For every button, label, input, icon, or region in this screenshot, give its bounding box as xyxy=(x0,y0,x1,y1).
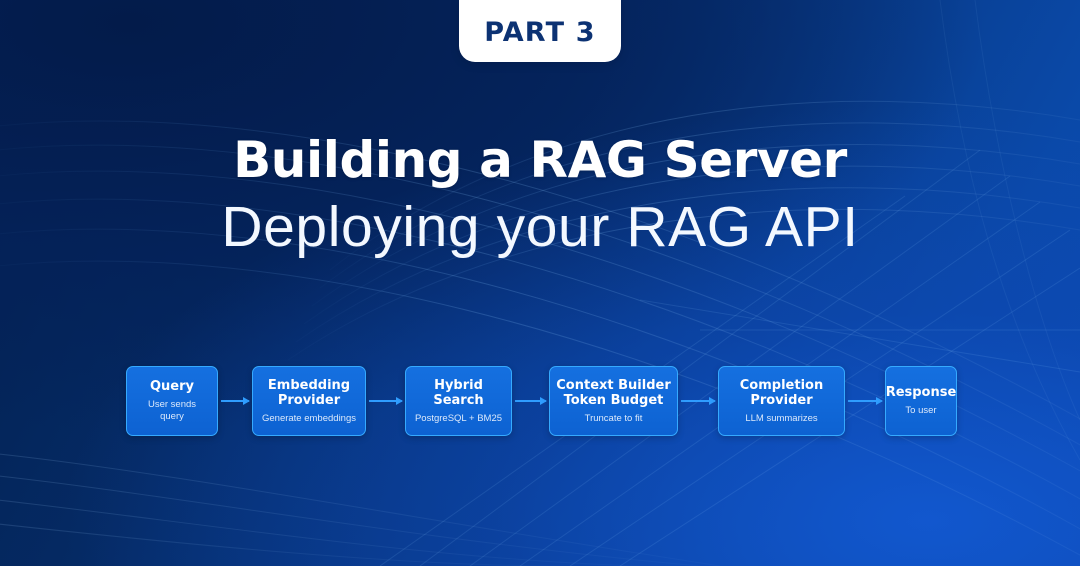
flow-node-title: Query xyxy=(150,379,194,394)
flow-node-subtitle: LLM summarizes xyxy=(745,413,817,425)
flow-node-title: Context Builder Token Budget xyxy=(556,378,671,408)
flow-node-title: Embedding Provider xyxy=(268,378,350,408)
arrow-head-icon xyxy=(243,397,250,405)
background-line-art xyxy=(0,0,1080,566)
flow-node-completion-provider[interactable]: Completion ProviderLLM summarizes xyxy=(718,366,845,436)
headline-block: Building a RAG Server Deploying your RAG… xyxy=(0,132,1080,264)
connector-context-to-completion xyxy=(681,400,715,402)
connector-hybrid-to-context xyxy=(515,400,546,402)
flow-node-title: Completion Provider xyxy=(740,378,823,408)
flow-node-title: Response xyxy=(886,385,957,400)
arrow-head-icon xyxy=(876,397,883,405)
flow-node-embedding-provider[interactable]: Embedding ProviderGenerate embeddings xyxy=(252,366,366,436)
connector-embedding-to-hybrid xyxy=(369,400,402,402)
flow-node-subtitle: Generate embeddings xyxy=(262,413,356,425)
arrow-head-icon xyxy=(709,397,716,405)
page-title: Building a RAG Server xyxy=(0,132,1080,188)
flow-node-hybrid-search[interactable]: Hybrid SearchPostgreSQL + BM25 xyxy=(405,366,512,436)
flow-node-context-builder[interactable]: Context Builder Token BudgetTruncate to … xyxy=(549,366,678,436)
flow-node-subtitle: PostgreSQL + BM25 xyxy=(415,413,502,425)
arrow-head-icon xyxy=(396,397,403,405)
rag-pipeline-diagram: QueryUser sends queryEmbedding ProviderG… xyxy=(0,366,1080,440)
arrow-head-icon xyxy=(540,397,547,405)
flow-node-title: Hybrid Search xyxy=(433,378,483,408)
page-subtitle: Deploying your RAG API xyxy=(0,190,1080,264)
flow-node-response[interactable]: ResponseTo user xyxy=(885,366,957,436)
connector-completion-to-response xyxy=(848,400,882,402)
part-badge-label: PART 3 xyxy=(484,13,596,48)
connector-query-to-embedding xyxy=(221,400,249,402)
flow-node-subtitle: User sends query xyxy=(148,399,196,423)
flow-node-subtitle: Truncate to fit xyxy=(585,413,643,425)
slide-canvas: PART 3 Building a RAG Server Deploying y… xyxy=(0,0,1080,566)
flow-node-subtitle: To user xyxy=(905,405,936,417)
flow-node-query[interactable]: QueryUser sends query xyxy=(126,366,218,436)
part-badge: PART 3 xyxy=(459,0,621,62)
